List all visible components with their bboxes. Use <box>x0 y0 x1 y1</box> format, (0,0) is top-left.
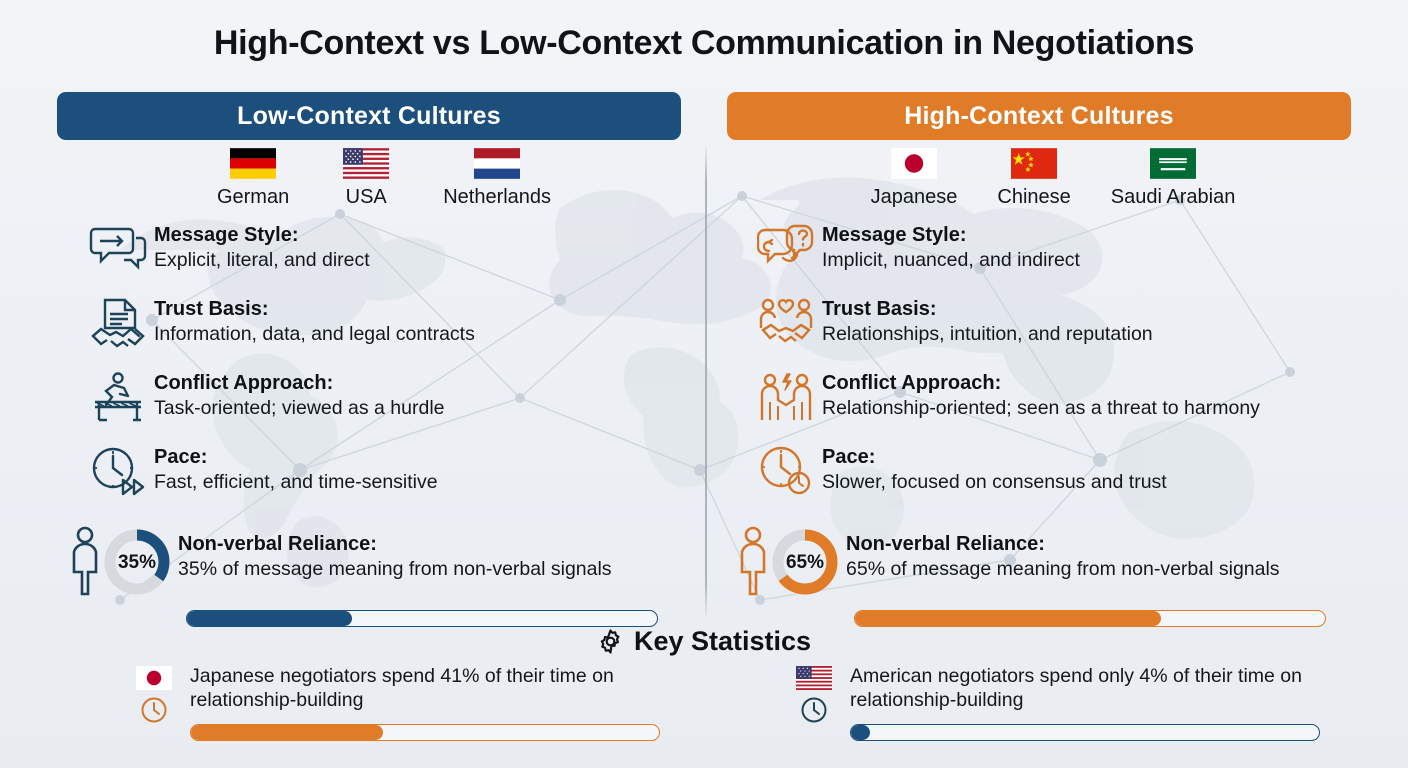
saudi-arabia-flag-icon <box>1150 148 1196 179</box>
feature-value: Relationships, intuition, and reputation <box>822 323 1153 346</box>
key-stat-japanese: Japanese negotiators spend 41% of their … <box>118 664 678 741</box>
feature-text: Conflict Approach: Relationship-oriented… <box>822 370 1260 420</box>
people-heart-handshake-icon <box>750 296 822 350</box>
feature-row-pace: Pace: Slower, focused on consensus and t… <box>750 444 1390 518</box>
feature-text: Conflict Approach: Task-oriented; viewed… <box>154 370 445 420</box>
key-stat-american: American negotiators spend only 4% of th… <box>778 664 1338 741</box>
feature-label: Trust Basis: <box>154 298 475 321</box>
feature-value: Slower, focused on consensus and trust <box>822 471 1167 494</box>
country-list-high-context: Japanese Chinese <box>727 148 1351 209</box>
feature-value: Fast, efficient, and time-sensitive <box>154 471 438 494</box>
feature-label: Message Style: <box>154 224 370 247</box>
nonverbal-text: Non-verbal Reliance: 35% of message mean… <box>178 521 612 581</box>
key-statistics-title: Key Statistics <box>634 626 811 657</box>
nonverbal-icons: 35% <box>68 521 178 599</box>
usa-flag-icon <box>343 148 389 179</box>
speech-bubbles-arrow-icon <box>82 222 154 270</box>
feature-row-trust-basis: Trust Basis: Information, data, and lega… <box>82 296 722 370</box>
clock-icon <box>140 696 168 724</box>
feature-label: Pace: <box>822 446 1167 469</box>
key-statistics-header: Key Statistics <box>0 626 1408 657</box>
country-list-low-context: German USA <box>57 148 681 209</box>
stat-text: Japanese negotiators spend 41% of their … <box>190 665 678 713</box>
nonverbal-block-low-context: 35% Non-verbal Reliance: 35% of message … <box>68 521 728 627</box>
clock-icon <box>800 696 828 724</box>
donut-chart-35: 35% <box>100 525 174 599</box>
netherlands-flag-icon <box>474 148 520 179</box>
nonverbal-icons: 65% <box>736 521 846 599</box>
feature-label: Conflict Approach: <box>822 372 1260 395</box>
nonverbal-block-high-context: 65% Non-verbal Reliance: 65% of message … <box>736 521 1396 627</box>
country-item-netherlands: Netherlands <box>443 148 551 209</box>
features-high-context: Message Style: Implicit, nuanced, and in… <box>750 222 1390 518</box>
country-name: Chinese <box>997 186 1070 209</box>
country-name: German <box>217 186 289 209</box>
nonverbal-text: Non-verbal Reliance: 65% of message mean… <box>846 521 1280 581</box>
feature-text: Message Style: Implicit, nuanced, and in… <box>822 222 1080 272</box>
document-handshake-icon <box>82 296 154 350</box>
feature-row-message-style: Message Style: Implicit, nuanced, and in… <box>750 222 1390 296</box>
country-item-chinese: Chinese <box>997 148 1070 209</box>
nonverbal-description: 35% of message meaning from non-verbal s… <box>178 558 612 581</box>
country-item-japanese: Japanese <box>871 148 958 209</box>
progress-fill <box>187 611 352 626</box>
nonverbal-progress-bar <box>186 610 658 627</box>
feature-text: Pace: Fast, efficient, and time-sensitiv… <box>154 444 438 494</box>
japan-flag-icon <box>136 666 172 690</box>
stat-text: American negotiators spend only 4% of th… <box>850 665 1338 713</box>
feature-label: Conflict Approach: <box>154 372 445 395</box>
country-name: USA <box>346 186 387 209</box>
progress-fill <box>851 725 870 740</box>
speech-bubble-question-icon <box>750 222 822 270</box>
stat-progress-bar <box>190 724 660 741</box>
country-item-saudi-arabian: Saudi Arabian <box>1111 148 1236 209</box>
progress-fill <box>191 725 383 740</box>
feature-label: Message Style: <box>822 224 1080 247</box>
country-item-german: German <box>217 148 289 209</box>
feature-value: Implicit, nuanced, and indirect <box>822 249 1080 272</box>
feature-value: Relationship-oriented; seen as a threat … <box>822 397 1260 420</box>
two-people-conflict-icon <box>750 370 822 424</box>
nonverbal-label: Non-verbal Reliance: <box>846 533 1280 556</box>
country-name: Netherlands <box>443 186 551 209</box>
stat-progress-bar <box>850 724 1320 741</box>
donut-percent-label: 35% <box>118 552 156 573</box>
feature-row-conflict-approach: Conflict Approach: Relationship-oriented… <box>750 370 1390 444</box>
donut-chart-65: 65% <box>768 525 842 599</box>
feature-value: Explicit, literal, and direct <box>154 249 370 272</box>
infographic-page: High-Context vs Low-Context Communicatio… <box>0 0 1408 768</box>
clock-slow-icon <box>750 444 822 496</box>
feature-row-message-style: Message Style: Explicit, literal, and di… <box>82 222 722 296</box>
person-icon <box>68 526 102 598</box>
feature-text: Pace: Slower, focused on consensus and t… <box>822 444 1167 494</box>
feature-text: Message Style: Explicit, literal, and di… <box>154 222 370 272</box>
feature-value: Information, data, and legal contracts <box>154 323 475 346</box>
germany-flag-icon <box>230 148 276 179</box>
country-name: Japanese <box>871 186 958 209</box>
feature-value: Task-oriented; viewed as a hurdle <box>154 397 445 420</box>
feature-row-conflict-approach: Conflict Approach: Task-oriented; viewed… <box>82 370 722 444</box>
feature-label: Trust Basis: <box>822 298 1153 321</box>
features-low-context: Message Style: Explicit, literal, and di… <box>82 222 722 518</box>
feature-row-pace: Pace: Fast, efficient, and time-sensitiv… <box>82 444 722 518</box>
feature-text: Trust Basis: Relationships, intuition, a… <box>822 296 1153 346</box>
feature-label: Pace: <box>154 446 438 469</box>
progress-fill <box>855 611 1161 626</box>
nonverbal-description: 65% of message meaning from non-verbal s… <box>846 558 1280 581</box>
japan-flag-icon <box>891 148 937 179</box>
country-item-usa: USA <box>343 148 389 209</box>
stat-icons <box>778 664 850 741</box>
usa-flag-icon <box>796 666 832 690</box>
feature-row-trust-basis: Trust Basis: Relationships, intuition, a… <box>750 296 1390 370</box>
header-high-context: High-Context Cultures <box>727 92 1351 140</box>
person-icon <box>736 526 770 598</box>
header-low-context: Low-Context Cultures <box>57 92 681 140</box>
page-title: High-Context vs Low-Context Communicatio… <box>0 24 1408 63</box>
donut-percent-label: 65% <box>786 552 824 573</box>
stat-icons <box>118 664 190 741</box>
country-name: Saudi Arabian <box>1111 186 1236 209</box>
china-flag-icon <box>1011 148 1057 179</box>
nonverbal-label: Non-verbal Reliance: <box>178 533 612 556</box>
hurdle-runner-icon <box>82 370 154 424</box>
nonverbal-progress-bar <box>854 610 1326 627</box>
feature-text: Trust Basis: Information, data, and lega… <box>154 296 475 346</box>
clock-fast-forward-icon <box>82 444 154 496</box>
gear-icon <box>597 628 624 655</box>
